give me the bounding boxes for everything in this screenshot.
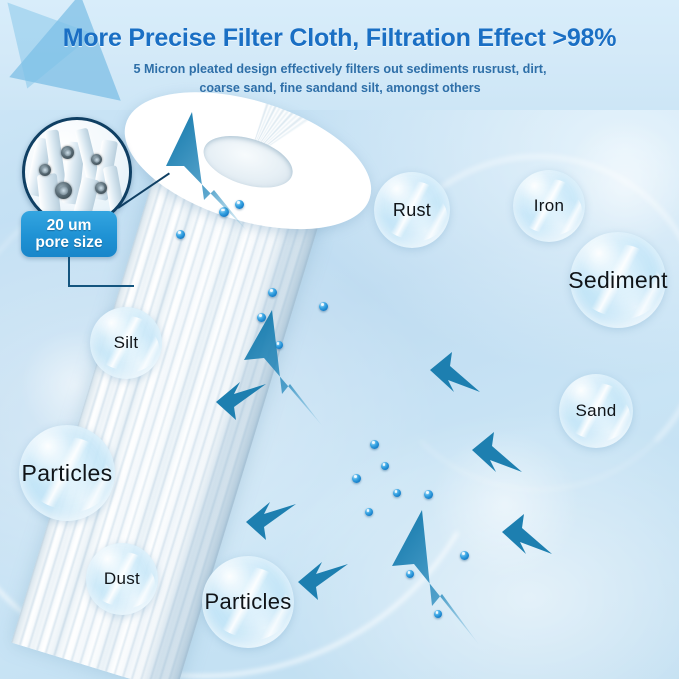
water-droplet (393, 489, 401, 497)
flow-arrow-in-left-1 (214, 380, 270, 426)
contaminant-bubble-sand: Sand (559, 374, 633, 448)
pore-marker (39, 164, 51, 176)
water-droplet (381, 462, 389, 470)
water-droplet (268, 288, 277, 297)
contaminant-bubble-iron: Iron (513, 170, 585, 242)
flow-arrow-mid-right (384, 498, 488, 648)
bubble-label: Dust (104, 569, 140, 589)
header-band: More Precise Filter Cloth, Filtration Ef… (0, 0, 679, 110)
pore-marker (55, 182, 72, 199)
pore-marker (91, 154, 102, 165)
water-droplet (365, 508, 373, 516)
flow-arrow-in-left-3 (296, 560, 352, 606)
contaminant-bubble-silt: Silt (90, 307, 162, 379)
contaminant-bubble-rust: Rust (374, 172, 450, 248)
page-title: More Precise Filter Cloth, Filtration Ef… (0, 24, 679, 53)
bubble-label: Sediment (568, 267, 668, 294)
water-droplet (352, 474, 361, 483)
bubble-label: Silt (114, 333, 139, 353)
bubble-label: Iron (534, 196, 565, 216)
contaminant-bubble-particles-left: Particles (19, 425, 115, 521)
badge-text: 20 um pore size (35, 217, 102, 251)
bubble-label: Particles (22, 460, 113, 487)
flow-arrow-in-right-3 (500, 512, 556, 560)
contaminant-bubble-sediment: Sediment (570, 232, 666, 328)
pore-marker (95, 182, 107, 194)
flow-arrow-in-left-2 (244, 500, 300, 546)
contaminant-bubble-particles-bottom: Particles (202, 556, 294, 648)
bubble-label: Rust (393, 200, 431, 221)
badge-line-2: pore size (35, 234, 102, 251)
flow-arrow-in-right-2 (470, 430, 526, 478)
badge-leader-horizontal (68, 285, 134, 287)
contaminant-bubble-dust: Dust (86, 543, 158, 615)
bubble-label: Sand (576, 401, 617, 421)
infographic-canvas: More Precise Filter Cloth, Filtration Ef… (0, 0, 679, 679)
pore-marker (61, 146, 74, 159)
pore-size-badge: 20 um pore size (21, 211, 117, 257)
badge-line-1: 20 um (35, 217, 102, 234)
water-droplet (370, 440, 379, 449)
bubble-label: Particles (204, 589, 291, 615)
flow-arrow-out-top (152, 104, 262, 234)
flow-arrow-in-right-1 (428, 350, 484, 398)
badge-leader-vertical (68, 257, 70, 287)
